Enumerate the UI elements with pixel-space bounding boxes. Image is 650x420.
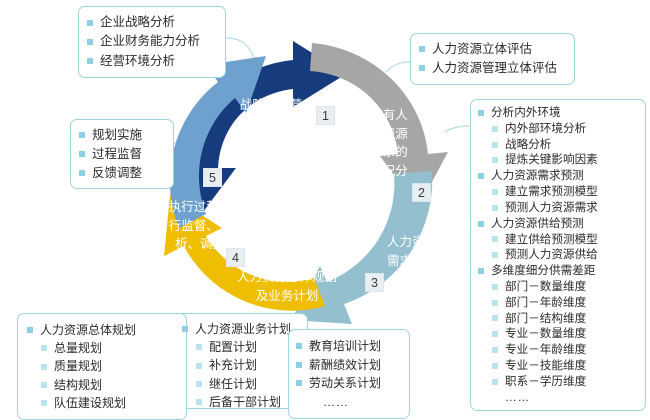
- list-item: 经营环境分析: [86, 52, 217, 71]
- diagram-canvas: 战略和经营 环境分析 现有人 力资源 体系的 状况分 析 人力资源 需求与供 给…: [0, 0, 650, 420]
- list-item: 人力资源管理立体评估: [418, 59, 566, 78]
- list-item: 部门－数量维度: [477, 279, 639, 295]
- hr-overall-plan-box: 人力资源总体规划总量规划质量规划结构规划队伍建设规划: [17, 313, 187, 420]
- hr-overall-plan-list: 人力资源总体规划总量规划质量规划结构规划队伍建设规划: [26, 321, 180, 412]
- list-item: 专业－技能维度: [477, 358, 639, 374]
- list-item: 人力资源需求预测: [477, 168, 639, 184]
- hr-business-plan-box: 人力资源业务计划配置计划补充计划继任计划后备干部计划: [176, 313, 299, 418]
- list-item: 人力资源立体评估: [418, 40, 566, 59]
- list-item: 过程监督: [78, 145, 165, 164]
- list-item: 建立供给预测模型: [477, 232, 639, 248]
- list-item: 补充计划: [181, 356, 295, 374]
- cycle-segment-3-number: 3: [365, 273, 384, 292]
- list-item: 建立需求预测模型: [477, 184, 639, 200]
- list-item: 反馈调整: [78, 164, 165, 183]
- list-item: 专业－年龄维度: [477, 342, 639, 358]
- list-item: 后备干部计划: [181, 393, 295, 411]
- cycle-segment-5-number: 5: [203, 168, 222, 187]
- cycle-segment-2-number: 2: [412, 183, 431, 202]
- other-plans-list: 教育培训计划薪酬绩效计划劳动关系计划……: [295, 337, 404, 411]
- forecast-detail-list: 分析内外环境内外部环境分析战略分析提炼关键影响因素人力资源需求预测建立需求预测模…: [477, 105, 639, 405]
- list-item: 规划实施: [78, 126, 165, 145]
- list-item: 内外部环境分析: [477, 121, 639, 137]
- list-item: 战略分析: [477, 137, 639, 153]
- list-item: 总量规划: [26, 339, 180, 357]
- strategy-analysis-box: 企业战略分析企业财务能力分析经营环境分析: [78, 6, 226, 78]
- list-item: 队伍建设规划: [26, 394, 180, 412]
- hr-business-plan-list: 人力资源业务计划配置计划补充计划继任计划后备干部计划: [181, 320, 295, 411]
- list-item: 职系－学历维度: [477, 374, 639, 390]
- list-item: 质量规划: [26, 357, 180, 375]
- hr-assessment-list: 人力资源立体评估人力资源管理立体评估: [418, 40, 566, 78]
- list-item: 分析内外环境: [477, 105, 639, 121]
- other-plans-box: 教育培训计划薪酬绩效计划劳动关系计划……: [288, 329, 410, 419]
- execution-list: 规划实施过程监督反馈调整: [78, 126, 165, 182]
- hr-assessment-box: 人力资源立体评估人力资源管理立体评估: [410, 33, 575, 85]
- list-item: 企业财务能力分析: [86, 32, 217, 51]
- list-item: 劳动关系计划: [295, 374, 404, 393]
- execution-box: 规划实施过程监督反馈调整: [70, 119, 174, 189]
- list-item: 部门－结构维度: [477, 311, 639, 327]
- list-item: 人力资源总体规划: [26, 321, 180, 339]
- cycle-segment-1-number: 1: [316, 106, 335, 125]
- list-item: 预测人力资源需求: [477, 200, 639, 216]
- strategy-analysis-list: 企业战略分析企业财务能力分析经营环境分析: [86, 13, 217, 71]
- list-item: 人力资源业务计划: [181, 320, 295, 338]
- list-item: 专业－数量维度: [477, 326, 639, 342]
- list-item: 部门－年龄维度: [477, 295, 639, 311]
- list-item: 多维度细分供需差距: [477, 263, 639, 279]
- forecast-detail-box: 分析内外环境内外部环境分析战略分析提炼关键影响因素人力资源需求预测建立需求预测模…: [470, 99, 646, 411]
- list-item: 企业战略分析: [86, 13, 217, 32]
- list-item: 配置计划: [181, 338, 295, 356]
- list-item: 薪酬绩效计划: [295, 356, 404, 375]
- list-item: ……: [295, 393, 404, 412]
- list-item: 提炼关键影响因素: [477, 152, 639, 168]
- list-item: 继任计划: [181, 375, 295, 393]
- list-item: 结构规划: [26, 376, 180, 394]
- cycle-segment-4-number: 4: [226, 248, 245, 267]
- list-item: 预测人力资源供给: [477, 247, 639, 263]
- list-item: 人力资源供给预测: [477, 216, 639, 232]
- list-item: 教育培训计划: [295, 337, 404, 356]
- list-item: ……: [477, 390, 639, 406]
